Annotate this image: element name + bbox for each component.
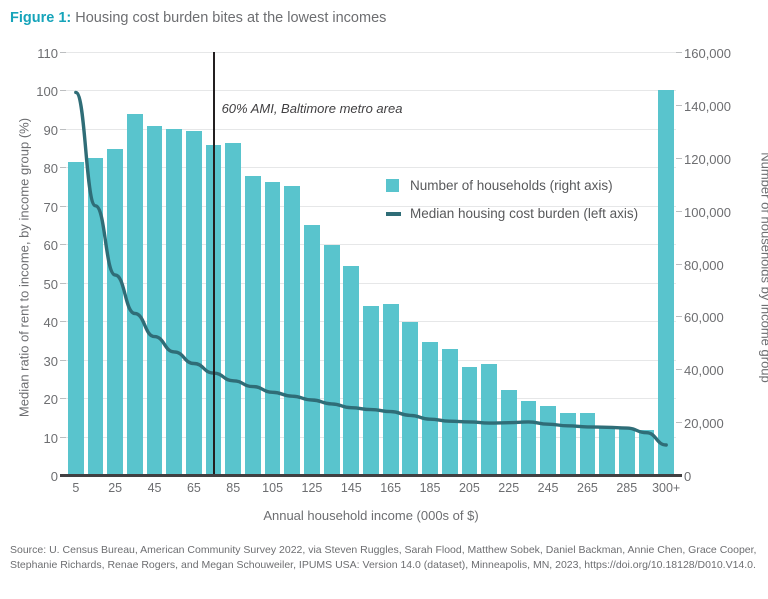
y-axis-right-tick-mark: [676, 158, 682, 159]
median-burden-line: [76, 92, 666, 445]
y-axis-right-tick-label: 100,000: [684, 205, 746, 220]
legend-label-households: Number of households (right axis): [410, 178, 613, 193]
legend-bar-swatch-icon: [386, 179, 399, 192]
legend-line-swatch-icon: [386, 212, 401, 216]
y-axis-right-title: Number of households by income group: [759, 58, 768, 478]
y-axis-right-tick-label: 40,000: [684, 363, 746, 378]
ami-annotation-label: 60% AMI, Baltimore metro area: [222, 101, 403, 116]
y-axis-right-tick-label: 160,000: [684, 46, 746, 61]
x-axis-tick-label: 300+: [641, 481, 691, 495]
y-axis-right-tick-mark: [676, 105, 682, 106]
x-axis-baseline: [60, 474, 682, 477]
x-axis-title: Annual household income (000s of $): [66, 508, 676, 523]
legend-label-burden: Median housing cost burden (left axis): [410, 206, 638, 221]
y-axis-right-tick-label: 20,000: [684, 416, 746, 431]
chart-legend: Number of households (right axis) Median…: [386, 178, 638, 234]
y-axis-right-tick-label: 0: [684, 469, 746, 484]
source-note: Source: U. Census Bureau, American Commu…: [10, 543, 760, 573]
y-axis-right-tick-mark: [676, 52, 682, 53]
y-axis-right-tick-label: 120,000: [684, 152, 746, 167]
y-axis-right-tick-mark: [676, 264, 682, 265]
legend-item-households: Number of households (right axis): [386, 178, 638, 193]
y-axis-right-tick-label: 80,000: [684, 258, 746, 273]
y-axis-right-tick-label: 60,000: [684, 310, 746, 325]
y-axis-right-tick-mark: [676, 316, 682, 317]
legend-item-burden: Median housing cost burden (left axis): [386, 206, 638, 221]
y-axis-right-tick-mark: [676, 369, 682, 370]
ami-reference-line: [213, 52, 215, 475]
y-axis-right-tick-mark: [676, 422, 682, 423]
figure-container: Figure 1: Housing cost burden bites at t…: [0, 0, 768, 599]
y-axis-left-title: Median ratio of rent to income, by incom…: [17, 58, 32, 478]
y-axis-right-tick-label: 140,000: [684, 99, 746, 114]
y-axis-right-tick-mark: [676, 211, 682, 212]
